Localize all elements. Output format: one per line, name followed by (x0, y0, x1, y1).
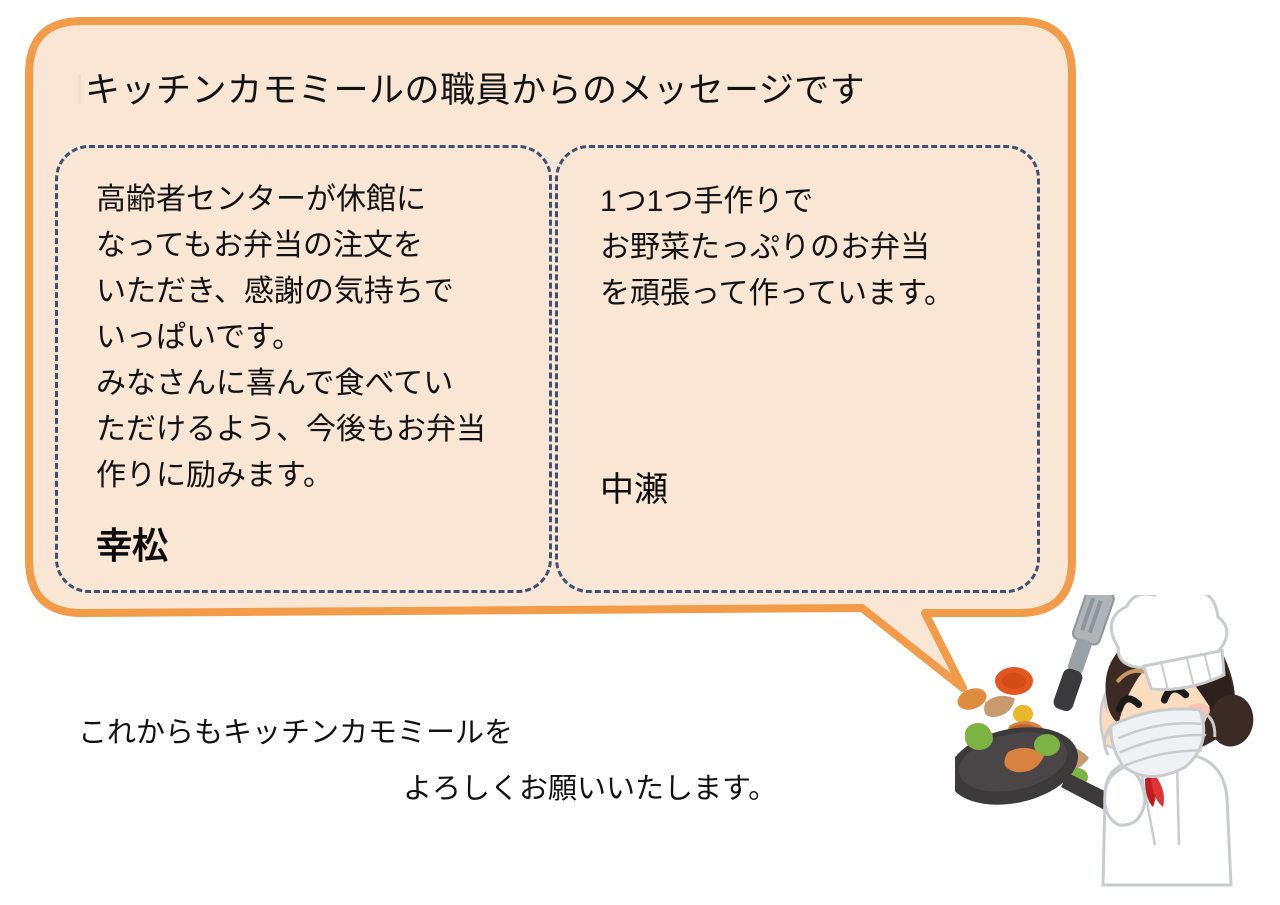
chef-cooking-illustration (955, 595, 1255, 890)
bubble-title: キッチンカモミールの職員からのメッセージです (85, 73, 865, 108)
closing-line-1: これからもキッチンカモミールを (78, 717, 513, 749)
message-signature-right: 中瀬 (600, 473, 668, 507)
message-panel-right: 1つ1つ手作りで お野菜たっぷりのお弁当 を頑張って作っています。 中瀬 (555, 145, 1040, 593)
speech-bubble: キッチンカモミールの職員からのメッセージです 高齢者センターが休館に なってもお… (0, 0, 1090, 710)
message-body-right: 1つ1つ手作りで お野菜たっぷりのお弁当 を頑張って作っています。 (600, 179, 1023, 317)
speech-bubble-shape (0, 0, 1090, 710)
closing-message: これからもキッチンカモミールを よろしくお願いいたします。 (78, 705, 898, 817)
message-signature-left: 幸松 (96, 528, 168, 564)
closing-line-2: よろしくお願いいたします。 (78, 761, 898, 817)
text-caret-artifact (78, 74, 81, 104)
message-panel-left: 高齢者センターが休館に なってもお弁当の注文を いただき、感謝の気持ちで いっぱ… (55, 145, 552, 593)
message-body-left: 高齢者センターが休館に なってもお弁当の注文を いただき、感謝の気持ちで いっぱ… (96, 177, 535, 499)
